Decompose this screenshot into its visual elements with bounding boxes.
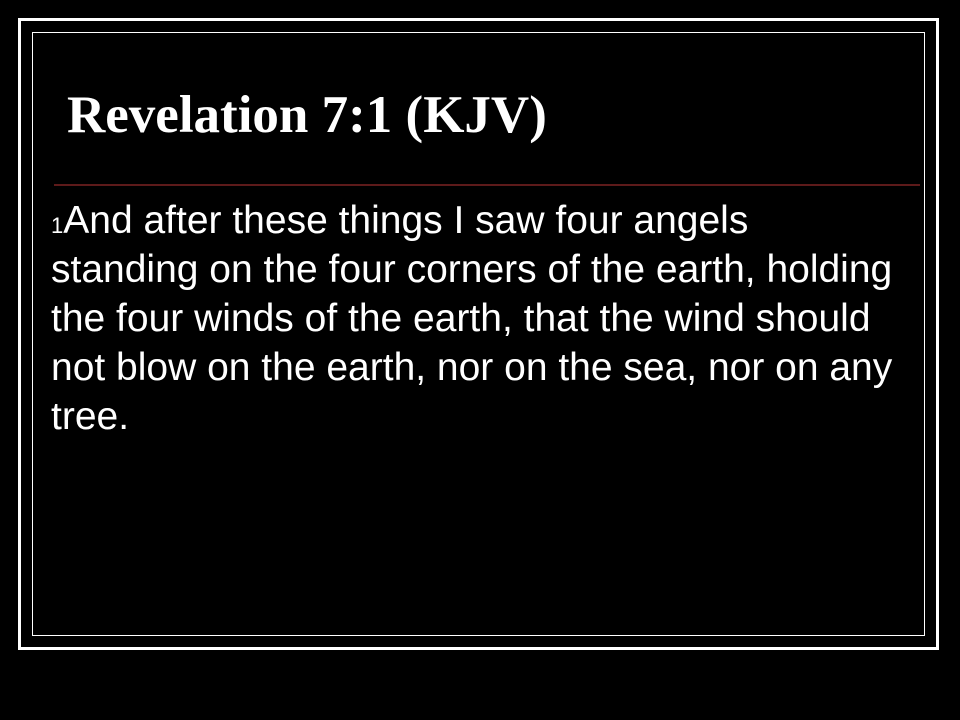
slide-content: Revelation 7:1 (KJV) 1And after these th… [21, 21, 936, 647]
verse-text: And after these things I saw four angels… [51, 199, 892, 438]
title-divider [54, 184, 920, 186]
slide-outer-border: Revelation 7:1 (KJV) 1And after these th… [18, 18, 939, 650]
slide-title: Revelation 7:1 (KJV) [67, 89, 547, 142]
verse-body: 1And after these things I saw four angel… [51, 196, 906, 441]
verse-number: 1 [51, 213, 63, 238]
presentation-slide: Revelation 7:1 (KJV) 1And after these th… [0, 0, 960, 720]
